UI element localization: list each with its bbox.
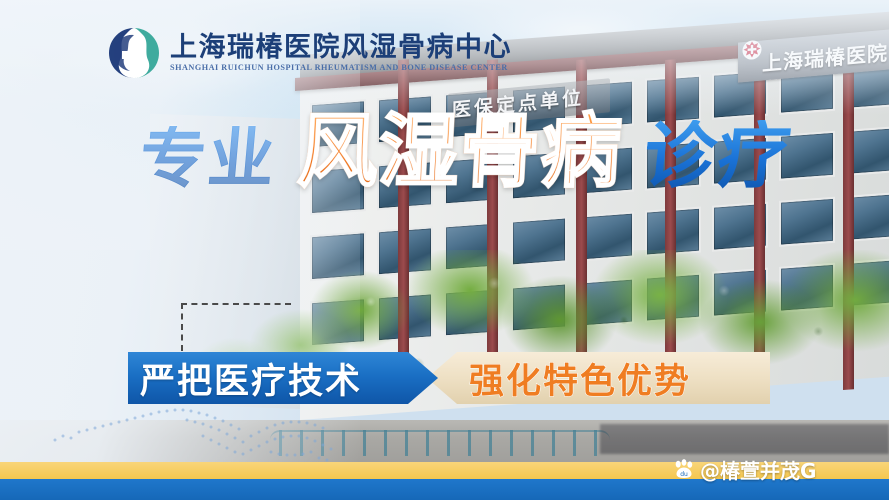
banner-secondary-label: 强化特色优势 bbox=[425, 353, 691, 404]
banner-image: 上海瑞椿医院 医保定点单位 bbox=[0, 0, 889, 500]
brand-name-en: SHANGHAI RUICHUN HOSPITAL RHEUMATISM AND… bbox=[170, 63, 512, 72]
brand-logo: 上海瑞椿医院风湿骨病中心 SHANGHAI RUICHUN HOSPITAL R… bbox=[108, 27, 512, 79]
banner-primary: 严把医疗技术 bbox=[128, 352, 438, 404]
baidu-paw-icon: du bbox=[672, 457, 696, 481]
brand-text-block: 上海瑞椿医院风湿骨病中心 SHANGHAI RUICHUN HOSPITAL R… bbox=[170, 34, 512, 72]
building-window bbox=[779, 197, 835, 247]
headline-part-3: 诊疗 bbox=[640, 120, 796, 192]
parked-vehicles bbox=[600, 424, 889, 454]
banner-primary-label: 严把医疗技术 bbox=[128, 353, 362, 404]
watermark-text: @椿萱并茂G bbox=[700, 455, 816, 484]
headline-part-2: 风湿骨病 bbox=[296, 112, 624, 192]
headline: 专业 风湿骨病 诊疗 bbox=[140, 112, 792, 192]
dashed-corner-bracket bbox=[181, 303, 291, 351]
brand-name-cn: 上海瑞椿医院风湿骨病中心 bbox=[170, 34, 512, 62]
hospital-logo-icon bbox=[108, 27, 160, 79]
svg-text:du: du bbox=[680, 471, 688, 478]
tree-foliage-detail bbox=[300, 250, 889, 435]
watermark: du @椿萱并茂G bbox=[672, 455, 816, 483]
banner-secondary: 强化特色优势 bbox=[425, 352, 770, 404]
headline-part-1: 专业 bbox=[137, 126, 279, 192]
